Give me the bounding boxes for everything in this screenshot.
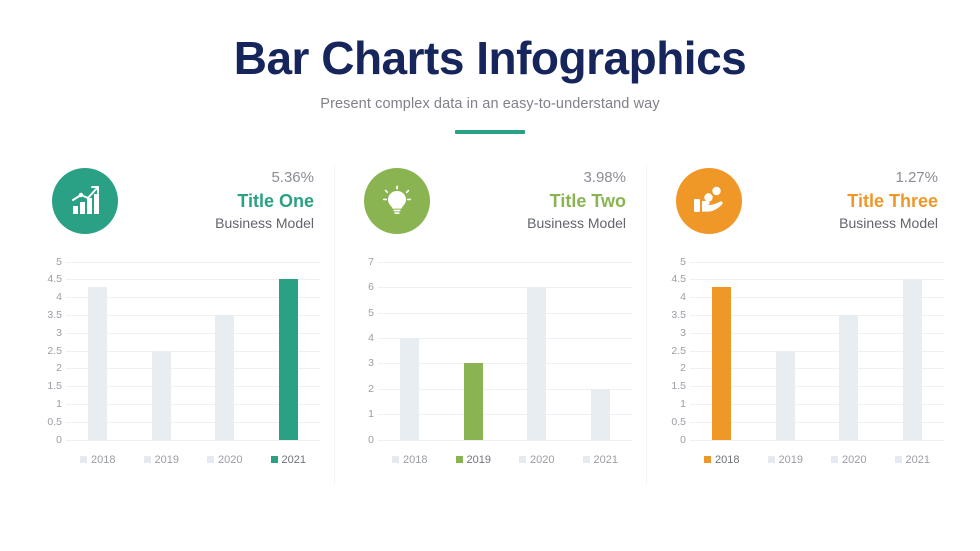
y-axis-tick: 2.5	[671, 345, 686, 357]
legend-label: 2019	[779, 454, 803, 466]
y-axis-tick: 1	[56, 398, 62, 410]
legend-label: 2018	[91, 454, 115, 466]
y-axis-tick: 0.5	[47, 416, 62, 428]
y-axis-tick: 2	[680, 362, 686, 374]
plot: 76543210	[352, 262, 632, 440]
chart-legend: 2018201920202021	[40, 454, 320, 466]
lightbulb-idea-icon	[364, 168, 430, 234]
legend-swatch	[80, 456, 87, 463]
panel-percent: 3.98%	[527, 169, 626, 188]
legend-swatch	[519, 456, 526, 463]
bars-group	[66, 262, 320, 440]
metric-panel: 1.27%Title ThreeBusiness Model54.543.532…	[646, 162, 958, 502]
y-axis-tick: 1	[368, 408, 374, 420]
plot-area	[690, 262, 944, 440]
y-axis-tick: 1	[680, 398, 686, 410]
hand-coins-money-icon	[676, 168, 742, 234]
bar[interactable]	[400, 338, 419, 440]
bar[interactable]	[464, 363, 483, 439]
panel-header-text: 3.98%Title TwoBusiness Model	[527, 169, 626, 232]
bar[interactable]	[215, 315, 234, 440]
legend-label: 2021	[906, 454, 930, 466]
legend-item[interactable]: 2021	[895, 454, 930, 466]
y-axis-tick: 0.5	[671, 416, 686, 428]
legend-swatch	[144, 456, 151, 463]
plot-area	[66, 262, 320, 440]
panel-title: Title One	[215, 190, 314, 213]
panel-subtitle: Business Model	[839, 215, 938, 233]
legend-item[interactable]: 2018	[704, 454, 739, 466]
page-subtitle: Present complex data in an easy-to-under…	[0, 96, 980, 112]
chart-legend: 2018201920202021	[352, 454, 632, 466]
bar-chart: 765432102018201920202021	[348, 262, 632, 466]
y-axis-tick: 6	[368, 281, 374, 293]
y-axis-tick: 3	[56, 327, 62, 339]
y-axis-tick: 2	[56, 362, 62, 374]
bars-group	[690, 262, 944, 440]
bar[interactable]	[279, 279, 298, 439]
bars-group	[378, 262, 632, 440]
y-axis-tick: 1.5	[671, 380, 686, 392]
legend-swatch	[831, 456, 838, 463]
legend-swatch	[583, 456, 590, 463]
y-axis-tick: 4	[56, 291, 62, 303]
legend-label: 2020	[842, 454, 866, 466]
legend-item[interactable]: 2019	[144, 454, 179, 466]
title-underline-rule	[455, 130, 525, 134]
panel-header-text: 1.27%Title ThreeBusiness Model	[839, 169, 938, 232]
panel-header: 1.27%Title ThreeBusiness Model	[660, 162, 944, 240]
legend-item[interactable]: 2021	[271, 454, 306, 466]
panel-header-text: 5.36%Title OneBusiness Model	[215, 169, 314, 232]
legend-swatch	[207, 456, 214, 463]
y-axis-tick: 5	[56, 256, 62, 268]
legend-swatch	[768, 456, 775, 463]
legend-label: 2020	[218, 454, 242, 466]
legend-swatch	[895, 456, 902, 463]
panel-title: Title Two	[527, 190, 626, 213]
page-header: Bar Charts Infographics Present complex …	[0, 0, 980, 134]
legend-label: 2021	[282, 454, 306, 466]
metric-panel: 3.98%Title TwoBusiness Model765432102018…	[334, 162, 646, 502]
legend-swatch	[392, 456, 399, 463]
y-axis-tick: 0	[56, 434, 62, 446]
y-axis: 54.543.532.521.510.50	[664, 262, 690, 440]
y-axis-tick: 5	[368, 307, 374, 319]
panel-subtitle: Business Model	[527, 215, 626, 233]
legend-swatch	[704, 456, 711, 463]
legend-label: 2018	[715, 454, 739, 466]
legend-item[interactable]: 2019	[456, 454, 491, 466]
page-title: Bar Charts Infographics	[0, 34, 980, 84]
legend-item[interactable]: 2020	[207, 454, 242, 466]
legend-item[interactable]: 2021	[583, 454, 618, 466]
legend-item[interactable]: 2018	[392, 454, 427, 466]
plot: 54.543.532.521.510.50	[664, 262, 944, 440]
chart-legend: 2018201920202021	[664, 454, 944, 466]
legend-item[interactable]: 2020	[831, 454, 866, 466]
panel-percent: 5.36%	[215, 169, 314, 188]
metric-panel: 5.36%Title OneBusiness Model54.543.532.5…	[22, 162, 334, 502]
legend-label: 2019	[155, 454, 179, 466]
legend-label: 2020	[530, 454, 554, 466]
bar[interactable]	[527, 287, 546, 440]
panel-percent: 1.27%	[839, 169, 938, 188]
y-axis-tick: 0	[368, 434, 374, 446]
bar-chart-growth-icon	[52, 168, 118, 234]
bar-chart: 54.543.532.521.510.502018201920202021	[36, 262, 320, 466]
gridline	[378, 440, 632, 441]
y-axis-tick: 7	[368, 256, 374, 268]
legend-label: 2021	[594, 454, 618, 466]
bar[interactable]	[776, 351, 795, 440]
bar[interactable]	[712, 287, 731, 440]
y-axis-tick: 1.5	[47, 380, 62, 392]
gridline	[690, 440, 944, 441]
panel-subtitle: Business Model	[215, 215, 314, 233]
y-axis-tick: 3.5	[47, 309, 62, 321]
legend-swatch	[271, 456, 278, 463]
panel-title: Title Three	[839, 190, 938, 213]
y-axis-tick: 3	[368, 357, 374, 369]
y-axis-tick: 2	[368, 383, 374, 395]
y-axis-tick: 4.5	[47, 273, 62, 285]
y-axis-tick: 3.5	[671, 309, 686, 321]
y-axis: 54.543.532.521.510.50	[40, 262, 66, 440]
bar[interactable]	[839, 315, 858, 440]
y-axis-tick: 4.5	[671, 273, 686, 285]
legend-item[interactable]: 2019	[768, 454, 803, 466]
panels-row: 5.36%Title OneBusiness Model54.543.532.5…	[0, 162, 980, 502]
y-axis-tick: 2.5	[47, 345, 62, 357]
panel-header: 5.36%Title OneBusiness Model	[36, 162, 320, 240]
y-axis: 76543210	[352, 262, 378, 440]
panel-header: 3.98%Title TwoBusiness Model	[348, 162, 632, 240]
legend-label: 2018	[403, 454, 427, 466]
plot-area	[378, 262, 632, 440]
y-axis-tick: 4	[368, 332, 374, 344]
y-axis-tick: 5	[680, 256, 686, 268]
bar[interactable]	[903, 279, 922, 439]
y-axis-tick: 4	[680, 291, 686, 303]
y-axis-tick: 3	[680, 327, 686, 339]
bar[interactable]	[591, 389, 610, 440]
bar-chart: 54.543.532.521.510.502018201920202021	[660, 262, 944, 466]
y-axis-tick: 0	[680, 434, 686, 446]
legend-item[interactable]: 2020	[519, 454, 554, 466]
legend-label: 2019	[467, 454, 491, 466]
gridline	[66, 440, 320, 441]
bar[interactable]	[88, 287, 107, 440]
legend-swatch	[456, 456, 463, 463]
plot: 54.543.532.521.510.50	[40, 262, 320, 440]
legend-item[interactable]: 2018	[80, 454, 115, 466]
bar[interactable]	[152, 351, 171, 440]
